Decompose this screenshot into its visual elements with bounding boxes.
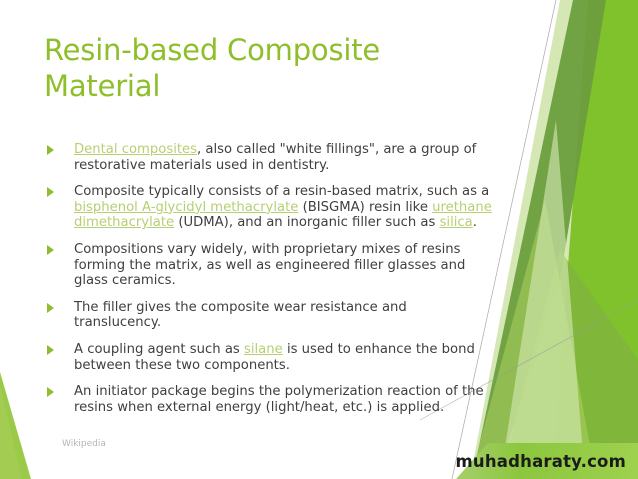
list-item-text: The filler gives the composite wear resi… (74, 300, 496, 331)
triangle-bullet-icon (47, 245, 54, 255)
list-item: Composite typically consists of a resin-… (44, 184, 496, 231)
list-item-text: Dental composites, also called "white fi… (74, 142, 496, 173)
page-title: Resin-based Composite Material (44, 32, 444, 104)
list-item: A coupling agent such as silane is used … (44, 342, 496, 373)
inline-link[interactable]: bisphenol A-glycidyl methacrylate (74, 200, 298, 215)
slide-canvas: Resin-based Composite Material Dental co… (0, 0, 638, 479)
deco-poly-pale-sliver (500, 120, 585, 479)
deco-poly-mid-green-lower (500, 250, 638, 479)
triangle-bullet-icon (47, 187, 54, 197)
inline-text: Compositions vary widely, with proprieta… (74, 242, 465, 288)
inline-link[interactable]: silane (244, 342, 283, 357)
site-watermark: muhadharaty.com (456, 452, 627, 471)
inline-link[interactable]: Dental composites (74, 142, 197, 157)
inline-text: A coupling agent such as (74, 342, 244, 357)
inline-text: . (473, 215, 477, 230)
list-item: Dental composites, also called "white fi… (44, 142, 496, 173)
inline-text: Composite typically consists of a resin-… (74, 184, 489, 199)
list-item: The filler gives the composite wear resi… (44, 300, 496, 331)
inline-link[interactable]: silica (440, 215, 473, 230)
triangle-bullet-icon (47, 387, 54, 397)
inline-text: An initiator package begins the polymeri… (74, 384, 484, 415)
triangle-bullet-icon (47, 303, 54, 313)
list-item: Compositions vary widely, with proprieta… (44, 242, 496, 289)
inline-text: (UDMA), and an inorganic filler such as (174, 215, 439, 230)
list-item-text: An initiator package begins the polymeri… (74, 384, 496, 415)
triangle-bullet-icon (47, 345, 54, 355)
list-item-text: Composite typically consists of a resin-… (74, 184, 496, 231)
bullet-list: Dental composites, also called "white fi… (44, 142, 496, 426)
list-item-text: A coupling agent such as silane is used … (74, 342, 496, 373)
inline-text: (BISGMA) resin like (298, 200, 432, 215)
triangle-bullet-icon (47, 145, 54, 155)
deco-poly-bottom-left-wedge (0, 372, 31, 479)
list-item-text: Compositions vary widely, with proprieta… (74, 242, 496, 289)
source-caption: Wikipedia (62, 439, 106, 449)
inline-text: The filler gives the composite wear resi… (74, 300, 407, 331)
deco-poly-bottom-left-wedge-2 (0, 386, 22, 479)
list-item: An initiator package begins the polymeri… (44, 384, 496, 415)
deco-poly-bright-right (552, 0, 638, 479)
